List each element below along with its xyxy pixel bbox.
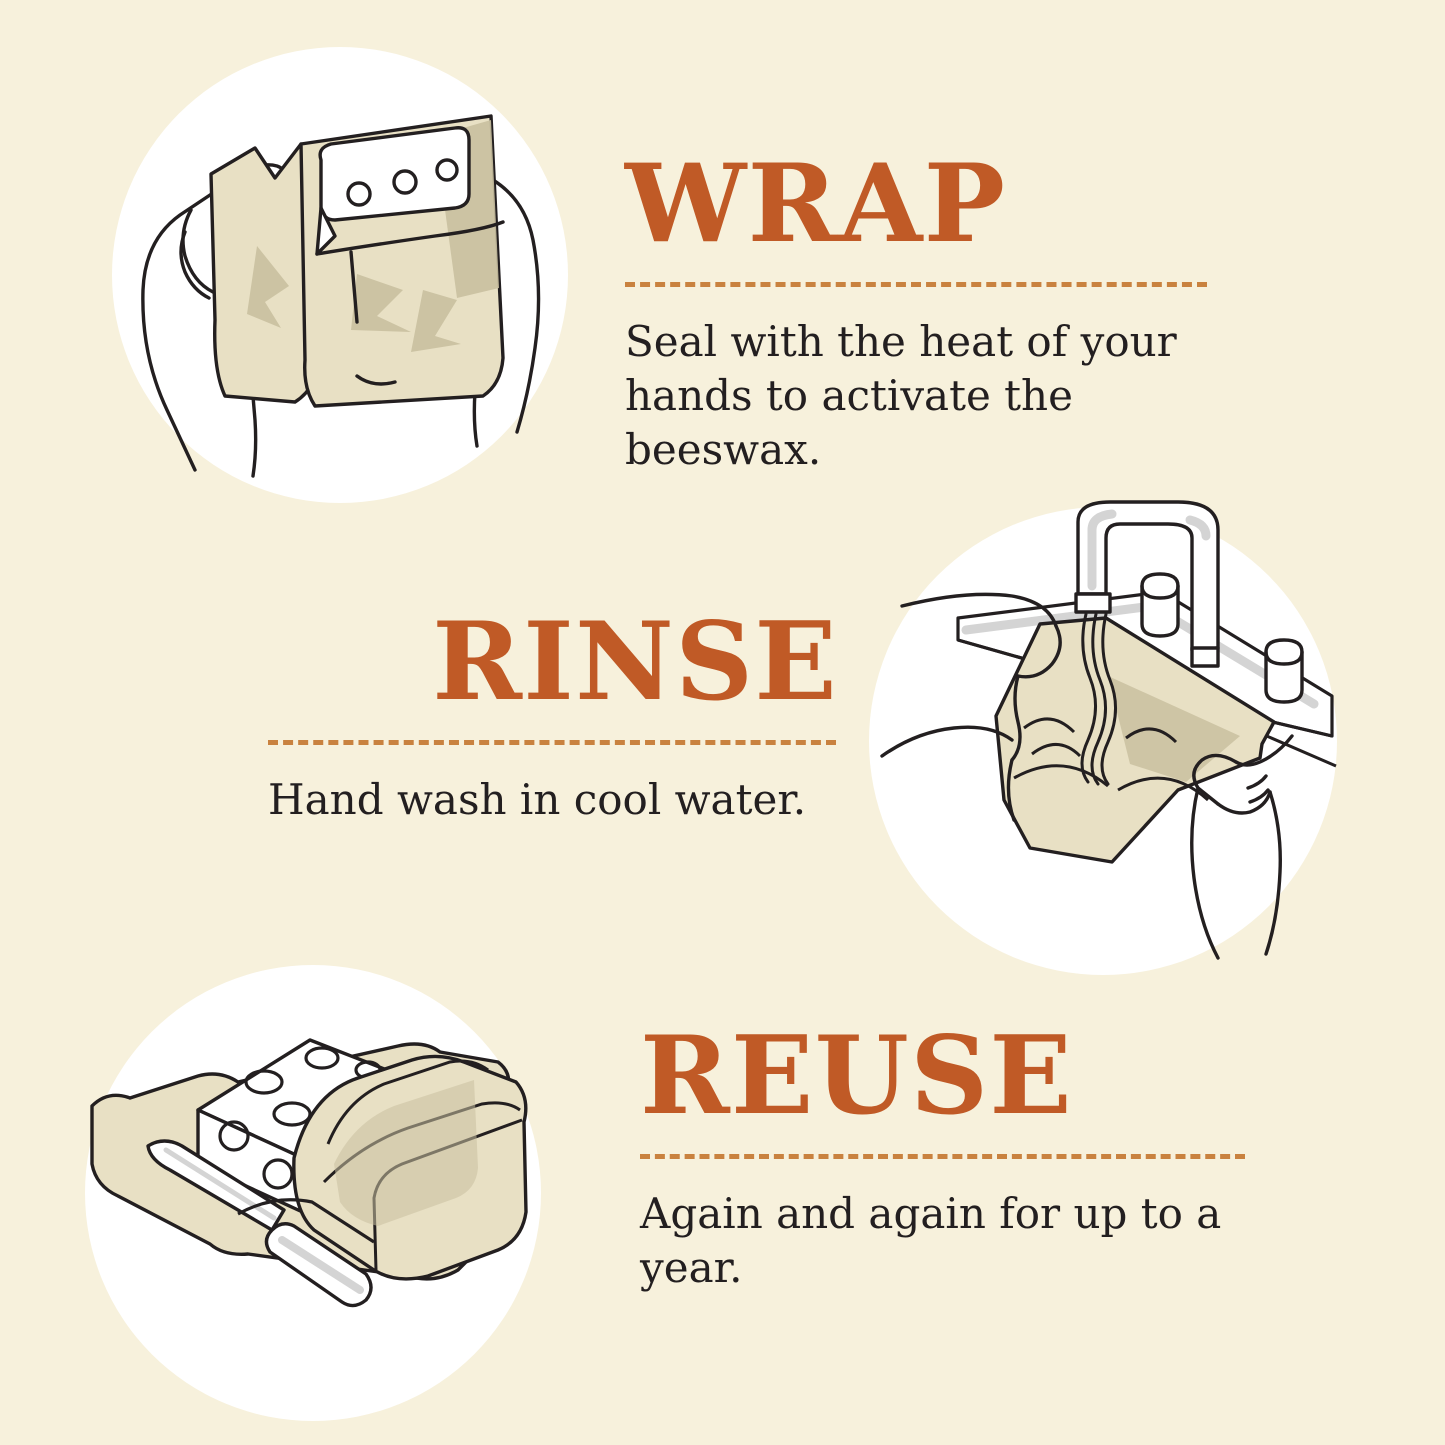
faucet-handle-right — [1266, 640, 1302, 702]
step-reuse-heading: REUSE — [640, 1022, 1250, 1130]
faucet-base — [1192, 648, 1218, 666]
step-wrap-text-block: WRAP Seal with the heat of your hands to… — [625, 150, 1225, 476]
faucet-aerator — [1076, 594, 1110, 612]
cheese-block-top — [320, 128, 469, 220]
hands-wrapping-cheese-illustration — [105, 40, 575, 510]
beeswax-care-poster: WRAP Seal with the heat of your hands to… — [0, 0, 1445, 1445]
faucet-handle-left — [1142, 574, 1178, 636]
hands-rinsing-wrap-under-faucet-illustration — [862, 500, 1344, 982]
step-reuse-illustration-wrapper — [78, 958, 548, 1428]
step-rinse-text-block: RINSE Hand wash in cool water. — [268, 608, 838, 827]
step-rinse-body: Hand wash in cool water. — [268, 773, 838, 827]
step-reuse-divider — [640, 1154, 1245, 1159]
step-reuse-text-block: REUSE Again and again for up to a year. — [640, 1022, 1250, 1295]
step-wrap-body: Seal with the heat of your hands to acti… — [625, 315, 1205, 476]
step-rinse-divider — [268, 740, 836, 745]
step-reuse-body: Again and again for up to a year. — [640, 1187, 1240, 1295]
wrapped-cheese-with-knife-illustration — [78, 958, 548, 1428]
step-wrap-illustration-wrapper — [105, 40, 575, 510]
step-wrap-divider — [625, 282, 1207, 287]
step-rinse-illustration-wrapper — [862, 500, 1344, 982]
step-rinse-heading: RINSE — [268, 608, 838, 716]
step-wrap-heading: WRAP — [625, 150, 1225, 258]
